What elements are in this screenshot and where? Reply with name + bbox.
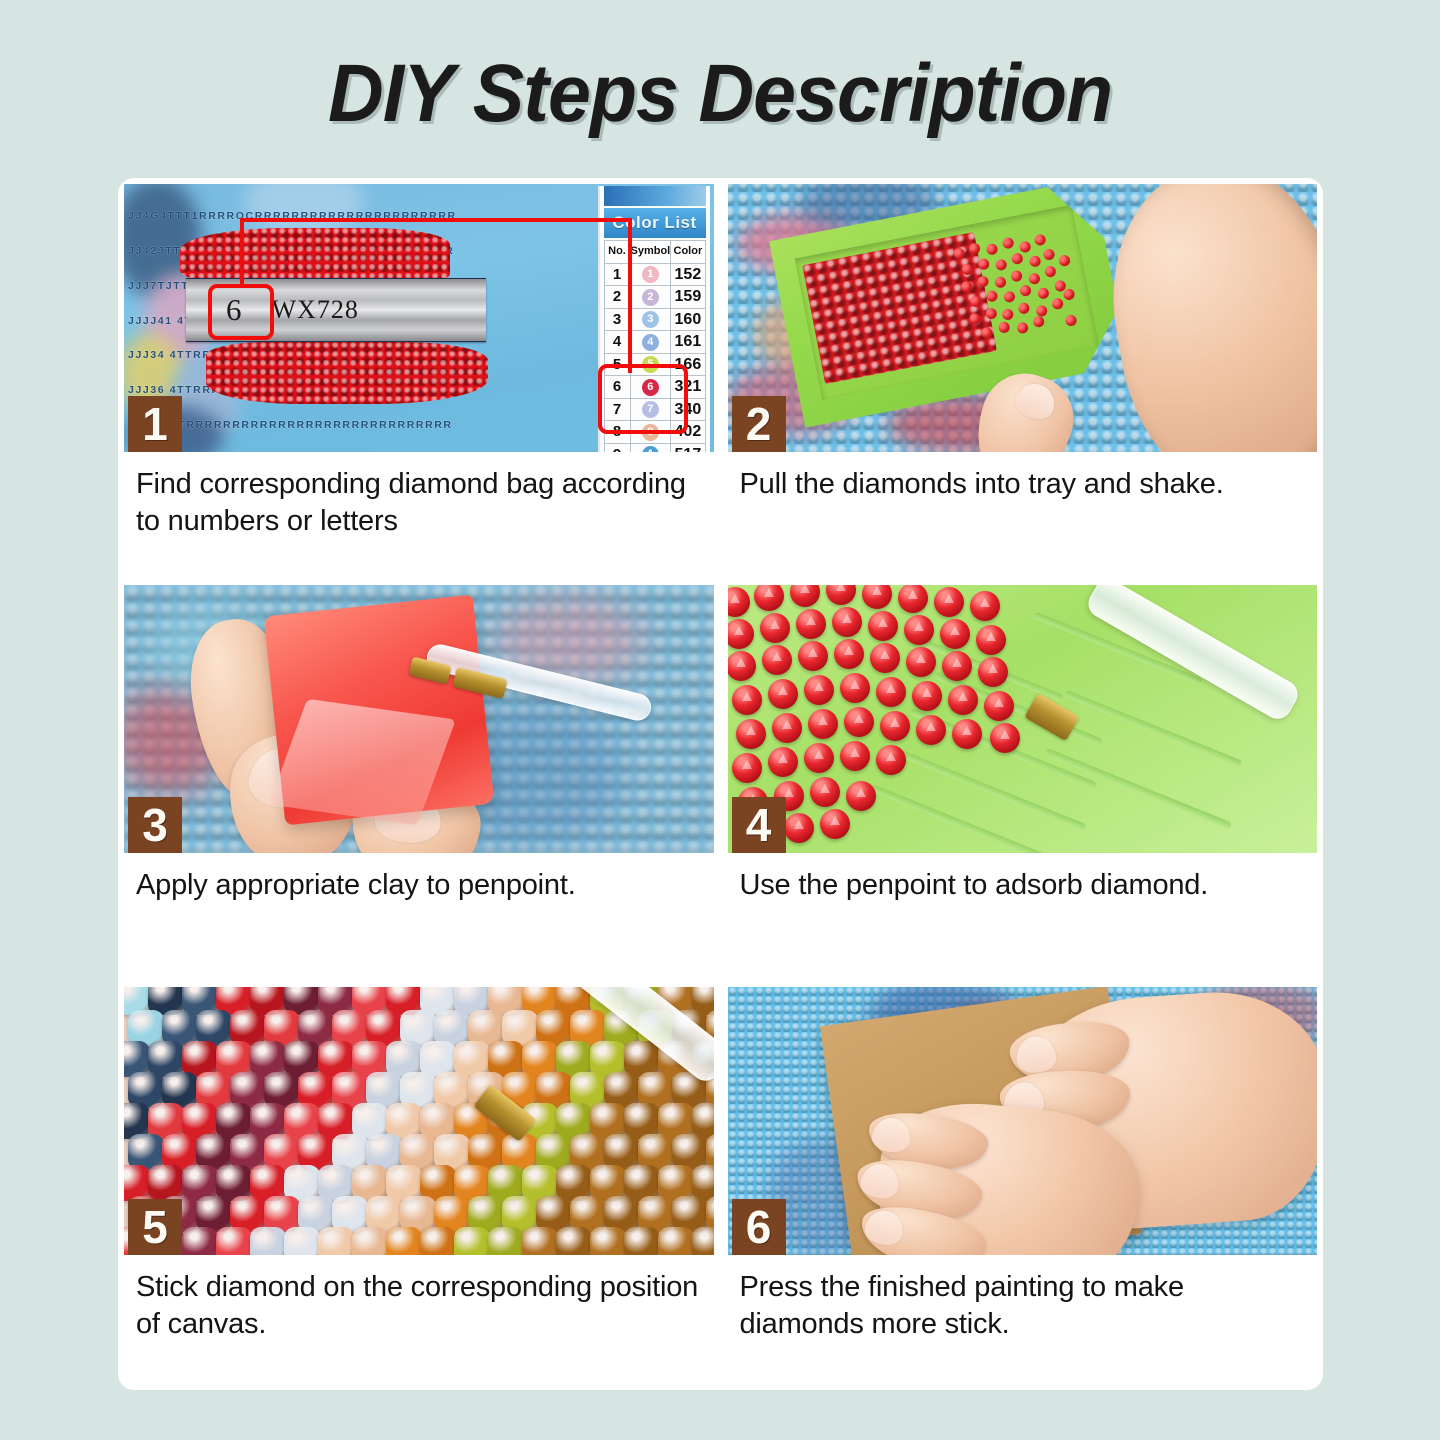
annotation-line-vertical-left (240, 218, 244, 286)
colorful-diamonds-closeup-photo (124, 987, 714, 1255)
row-symbol: A (630, 443, 671, 452)
color-list-header-no: No. (604, 241, 630, 264)
table-row: 4 4 161 (604, 331, 705, 354)
table-row: 3 3 160 (604, 308, 705, 331)
step-caption: Apply appropriate clay to penpoint. (124, 853, 714, 912)
step-caption: Stick diamond on the corresponding posit… (124, 1255, 714, 1351)
row-no: 3 (604, 308, 630, 331)
page-title: DIY Steps Description (328, 46, 1112, 142)
row-symbol: 4 (630, 331, 671, 354)
step-5: 5 Stick diamond on the corresponding pos… (124, 987, 714, 1384)
red-drills-spread (950, 224, 1081, 347)
row-symbol: 2 (630, 286, 671, 309)
diamond-bag-code: WX728 (272, 295, 359, 325)
step-caption: Press the finished painting to make diam… (728, 1255, 1318, 1351)
step-1: JJ4G4TTT1RRRROCRRRRRRRRRRRRRRRRRRRRRR JJ… (124, 184, 714, 581)
step-4-photo: 4 (728, 585, 1318, 853)
row-color: 161 (671, 331, 705, 354)
step-3-photo: 3 (124, 585, 714, 853)
annotation-box-bag-number (208, 284, 274, 340)
pen-picking-red-drill-photo (728, 585, 1318, 853)
step-badge: 5 (128, 1199, 182, 1255)
hand-holding-green-tray-photo (728, 184, 1318, 452)
annotation-line-horizontal-top (240, 218, 632, 222)
printed-canvas-with-diamond-bag-photo: JJ4G4TTT1RRRROCRRRRRRRRRRRRRRRRRRRRRR JJ… (124, 184, 714, 452)
color-list-header-symbol: Symbol (630, 241, 671, 264)
spilled-red-drills-bottom (206, 342, 488, 404)
step-badge: 1 (128, 396, 182, 452)
row-no: 1 (604, 263, 630, 286)
step-5-photo: 5 (124, 987, 714, 1255)
row-no: 2 (604, 286, 630, 309)
step-2-photo: 2 (728, 184, 1318, 452)
row-no: 4 (604, 331, 630, 354)
hands-pressing-book-photo: e Book (728, 987, 1318, 1255)
annotation-line-vertical-right (628, 218, 632, 373)
row-color: 159 (671, 286, 705, 309)
red-clay (264, 595, 495, 826)
row-color: 152 (671, 263, 705, 286)
table-row: 9 A 517 (604, 443, 705, 452)
color-list-header-color: Color (671, 241, 705, 264)
step-badge: 6 (732, 1199, 786, 1255)
step-badge: 3 (128, 797, 182, 853)
annotation-box-color-rows (598, 364, 688, 434)
row-color: 517 (671, 443, 705, 452)
step-caption: Use the penpoint to adsorb diamond. (728, 853, 1318, 912)
step-caption: Pull the diamonds into tray and shake. (728, 452, 1318, 511)
table-row: 2 2 159 (604, 286, 705, 309)
color-list-title: Color List (604, 208, 706, 238)
step-badge: 4 (732, 797, 786, 853)
step-3: 3 Apply appropriate clay to penpoint. (124, 585, 714, 982)
infographic-page: DIY Steps Description (0, 0, 1440, 1440)
step-4: 4 Use the penpoint to adsorb diamond. (728, 585, 1318, 982)
step-6: e Book (728, 987, 1318, 1384)
step-badge: 2 (732, 396, 786, 452)
table-row: 1 1 152 (604, 263, 705, 286)
fingers-holding-red-clay-photo (124, 585, 714, 853)
row-color: 160 (671, 308, 705, 331)
row-symbol: 1 (630, 263, 671, 286)
row-no: 9 (604, 443, 630, 452)
color-list-banner (604, 186, 706, 206)
step-2: 2 Pull the diamonds into tray and shake. (728, 184, 1318, 581)
step-caption: Find corresponding diamond bag according… (124, 452, 714, 548)
steps-card: JJ4G4TTT1RRRROCRRRRRRRRRRRRRRRRRRRRRR JJ… (118, 178, 1323, 1390)
color-list-header-row: No. Symbol Color (604, 241, 705, 264)
page-title-wrap: DIY Steps Description (0, 46, 1440, 142)
step-1-photo: JJ4G4TTT1RRRROCRRRRRRRRRRRRRRRRRRRRRR JJ… (124, 184, 714, 452)
step-6-photo: e Book (728, 987, 1318, 1255)
clay-fold (269, 699, 456, 826)
row-symbol: 3 (630, 308, 671, 331)
steps-grid: JJ4G4TTT1RRRROCRRRRRRRRRRRRRRRRRRRRRR JJ… (124, 184, 1317, 1384)
spilled-red-drills-top (180, 228, 450, 284)
tray-well (794, 205, 1098, 400)
